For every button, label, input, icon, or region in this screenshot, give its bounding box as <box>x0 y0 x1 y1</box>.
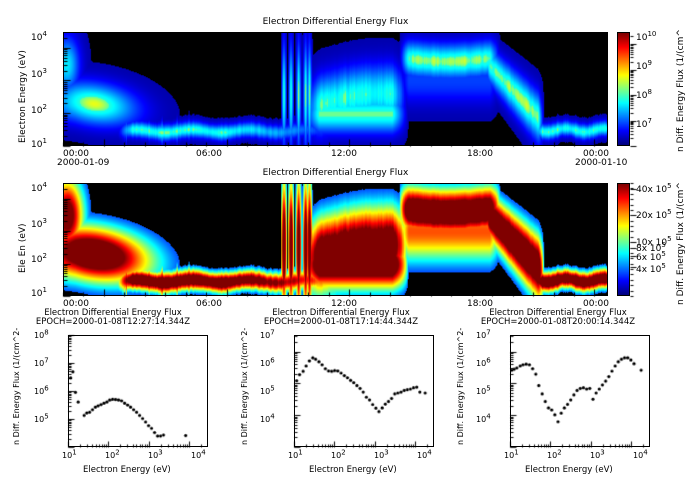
spectrum-1-xtick-3: 103 <box>148 451 163 460</box>
spectrum-3-epoch: EPOCH=2000-01-08T20:00:14.344Z <box>453 318 663 328</box>
top-colorbar-gradient <box>618 33 629 145</box>
top-xtick-3: 18:00 <box>467 149 493 159</box>
spectrum-1-ytick-5: 105 <box>34 415 49 424</box>
spectrum-3-xtick-1: 101 <box>504 451 519 460</box>
spectrum-1-plot-area <box>68 335 208 447</box>
spectrum-2-ytick-6: 106 <box>260 359 275 368</box>
mid-colorbar <box>617 183 630 296</box>
mid-cbar-tick-20: 20x 105 <box>636 211 672 221</box>
mid-colorbar-label: n Diff. Energy Flux (1/(cm^ <box>676 182 686 305</box>
top-panel-title: Electron Differential Energy Flux <box>63 17 608 27</box>
panel-spectrum-1: Electron Differential Energy Flux EPOCH=… <box>0 305 232 492</box>
spectrum-2-xtick-4: 104 <box>417 451 432 460</box>
top-ytick-4: 104 <box>31 33 47 43</box>
spectrum-3-y-axis-label: n Diff. Energy Flux (1/(cm^2- <box>456 328 465 445</box>
top-ytick-2: 102 <box>31 106 47 116</box>
mid-cbar-tick-4: 4x 105 <box>636 265 666 275</box>
panel-top-spectrogram: Electron Differential Energy Flux Electr… <box>0 0 697 175</box>
spectrum-3-scatter <box>511 336 649 446</box>
mid-spectrogram-plot-area <box>63 183 608 296</box>
top-spectrogram-image <box>64 33 607 145</box>
mid-cbar-tick-40: 40x 105 <box>636 185 672 195</box>
top-cbar-tick-8: 108 <box>636 91 652 101</box>
mid-ytick-4: 104 <box>31 184 47 194</box>
top-spectrogram-plot-area <box>63 32 608 146</box>
spectrum-3-xtick-4: 104 <box>633 451 648 460</box>
mid-spectrogram-image <box>64 184 607 295</box>
spectrum-1-y-axis-label: n Diff. Energy Flux (1/(cm^2- <box>12 328 21 445</box>
spectrum-1-xtick-2: 102 <box>105 451 120 460</box>
spectrum-1-x-axis-label: Electron Energy (eV) <box>83 465 171 475</box>
top-colorbar-label: n Diff. Energy Flux (1/(cm^ <box>676 29 686 152</box>
top-cbar-tick-10: 1010 <box>636 33 656 43</box>
top-panel-y-axis-label: Electron Energy (eV) <box>18 50 28 143</box>
top-cbar-tick-7: 107 <box>636 120 652 130</box>
spectrum-2-ytick-4: 104 <box>260 415 275 424</box>
panel-spectrum-3: Electron Differential Energy Flux EPOCH=… <box>458 305 697 492</box>
spectrum-1-epoch: EPOCH=2000-01-08T12:27:14.344Z <box>8 318 218 328</box>
spectrum-1-ytick-7: 107 <box>34 359 49 368</box>
spectrum-1-xtick-4: 104 <box>191 451 206 460</box>
spectrum-1-ytick-6: 106 <box>34 387 49 396</box>
mid-ytick-2: 102 <box>31 255 47 265</box>
spectrum-2-ytick-5: 105 <box>260 387 275 396</box>
mid-ytick-1: 101 <box>31 289 47 299</box>
spectrum-2-xtick-2: 102 <box>331 451 346 460</box>
spectrum-1-scatter <box>69 336 207 446</box>
spectrum-2-scatter <box>295 336 433 446</box>
top-ytick-3: 103 <box>31 70 47 80</box>
spectrum-2-xtick-1: 101 <box>288 451 303 460</box>
panel-spectrum-2: Electron Differential Energy Flux EPOCH=… <box>232 305 458 492</box>
panel-mid-spectrogram: Electron Differential Energy Flux Ele En… <box>0 160 697 320</box>
mid-colorbar-gradient <box>618 184 629 295</box>
spectrum-2-xtick-3: 103 <box>374 451 389 460</box>
spectrum-3-ytick-5: 105 <box>476 387 491 396</box>
spectrum-2-x-axis-label: Electron Energy (eV) <box>309 465 397 475</box>
spectrum-3-ytick-6: 106 <box>476 359 491 368</box>
spectrum-3-xtick-2: 102 <box>547 451 562 460</box>
mid-panel-y-axis-label: Ele En (eV) <box>18 223 28 273</box>
spectrum-1-xtick-1: 101 <box>62 451 77 460</box>
top-xtick-2: 12:00 <box>331 149 357 159</box>
spectrum-1-ytick-8: 108 <box>34 331 49 340</box>
top-xtick-1: 06:00 <box>196 149 222 159</box>
spectrum-3-xtick-3: 103 <box>590 451 605 460</box>
spectrum-2-ytick-7: 107 <box>260 331 275 340</box>
spectrum-2-y-axis-label: n Diff. Energy Flux (1/(cm^2- <box>240 328 249 445</box>
top-ytick-1: 101 <box>31 140 47 150</box>
spectrum-2-epoch: EPOCH=2000-01-08T17:14:44.344Z <box>236 318 446 328</box>
figure-root: Electron Differential Energy Flux Electr… <box>0 0 697 492</box>
mid-panel-title: Electron Differential Energy Flux <box>63 168 608 178</box>
top-colorbar <box>617 32 630 146</box>
spectrum-2-plot-area <box>294 335 434 447</box>
spectrum-3-plot-area <box>510 335 650 447</box>
spectrum-3-ytick-7: 107 <box>476 331 491 340</box>
spectrum-3-x-axis-label: Electron Energy (eV) <box>525 465 613 475</box>
spectrum-3-ytick-4: 104 <box>476 415 491 424</box>
top-cbar-tick-9: 109 <box>636 62 652 72</box>
mid-ytick-3: 103 <box>31 220 47 230</box>
